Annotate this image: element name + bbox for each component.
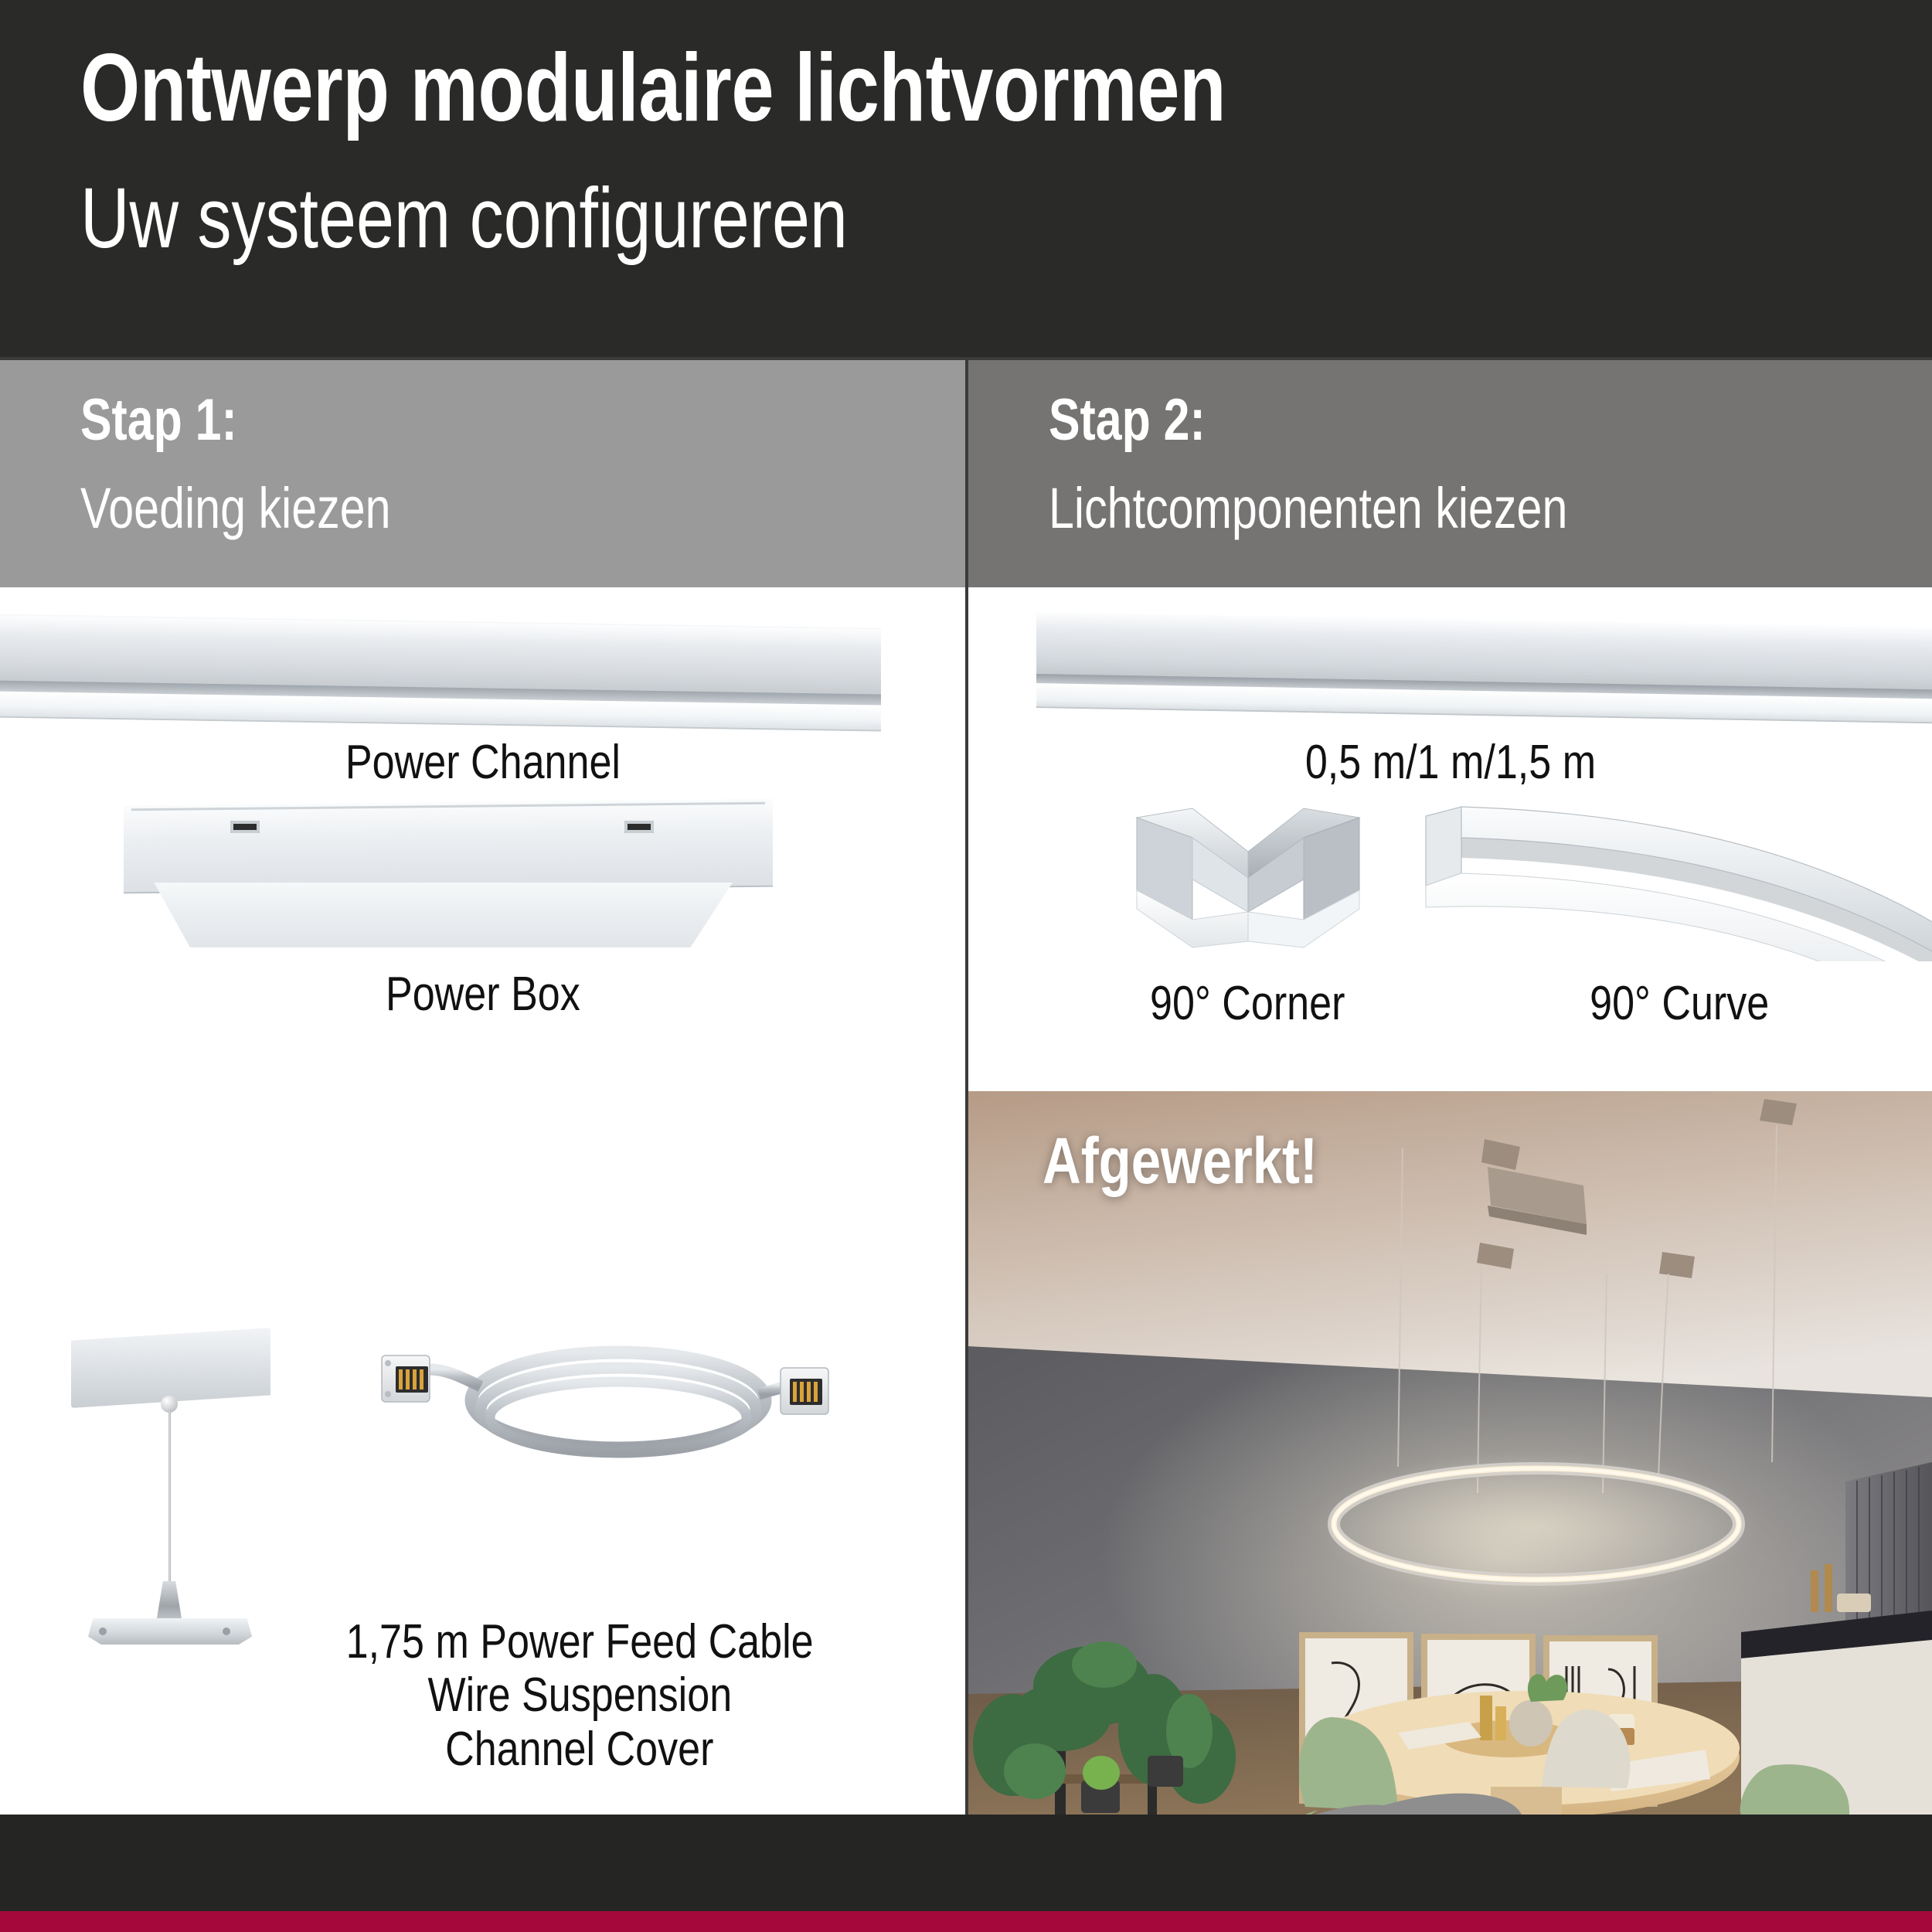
optional-item-1: Wire Suspension	[232, 1668, 927, 1722]
optional-products-panel: 1,75 m Power Feed Cable Wire Suspension …	[0, 1091, 965, 1815]
finished-title: Afgewerkt!	[1043, 1128, 1318, 1193]
power-box-caption: Power Box	[0, 971, 965, 1019]
step-1-kicker: Stap 1:	[80, 391, 237, 450]
step-2-products-panel: 0,5 m/1 m/1,5 m	[968, 587, 1932, 1091]
optional-item-0: 1,75 m Power Feed Cable	[232, 1615, 927, 1668]
step-2-label: Lichtcomponenten kiezen	[1049, 480, 1567, 537]
step-1-products-panel: Power Channel Power Box	[0, 587, 965, 1091]
lengths-label: 0,5 m/1 m/1,5 m	[1304, 739, 1595, 787]
optional-item-2: Channel Cover	[232, 1723, 927, 1776]
power-box-product-image	[124, 801, 773, 947]
corner-product-image	[1132, 804, 1364, 951]
curve-product-image	[1413, 799, 1932, 961]
curve-caption: 90° Curve	[1447, 980, 1911, 1028]
lengths-caption: 0,5 m/1 m/1,5 m	[968, 739, 1932, 787]
corner-caption: 90° Corner	[1043, 980, 1452, 1028]
power-box-connector-right-icon	[624, 821, 654, 833]
footer-accent-bar	[0, 1911, 1932, 1932]
page-title: Ontwerp modulaire lichtvormen	[80, 40, 1226, 136]
step-1-band: Stap 1: Voeding kiezen	[0, 360, 965, 587]
page-subtitle: Uw systeem configureren	[80, 176, 848, 261]
finished-room-photo: Afgewerkt!	[968, 1091, 1932, 1815]
footer-bar	[0, 1815, 1932, 1911]
power-channel-caption: Power Channel	[0, 739, 965, 787]
light-bar-product-image	[1036, 611, 1932, 711]
power-channel-label: Power Channel	[345, 739, 620, 787]
power-box-connector-left-icon	[230, 821, 260, 833]
step-2-band: Stap 2: Lichtcomponenten kiezen	[968, 360, 1932, 587]
optional-items-list: 1,75 m Power Feed Cable Wire Suspension …	[232, 1615, 927, 1776]
power-box-label: Power Box	[386, 971, 580, 1019]
power-channel-product-image	[0, 614, 881, 716]
curve-label: 90° Curve	[1590, 980, 1769, 1028]
page-header: Ontwerp modulaire lichtvormen Uw systeem…	[0, 0, 1932, 360]
corner-label: 90° Corner	[1150, 980, 1345, 1028]
wire-suspension-product-image	[56, 1320, 303, 1660]
step-1-label: Voeding kiezen	[80, 480, 391, 537]
step-2-kicker: Stap 2:	[1049, 391, 1206, 450]
power-feed-cable-product-image	[363, 1323, 842, 1485]
